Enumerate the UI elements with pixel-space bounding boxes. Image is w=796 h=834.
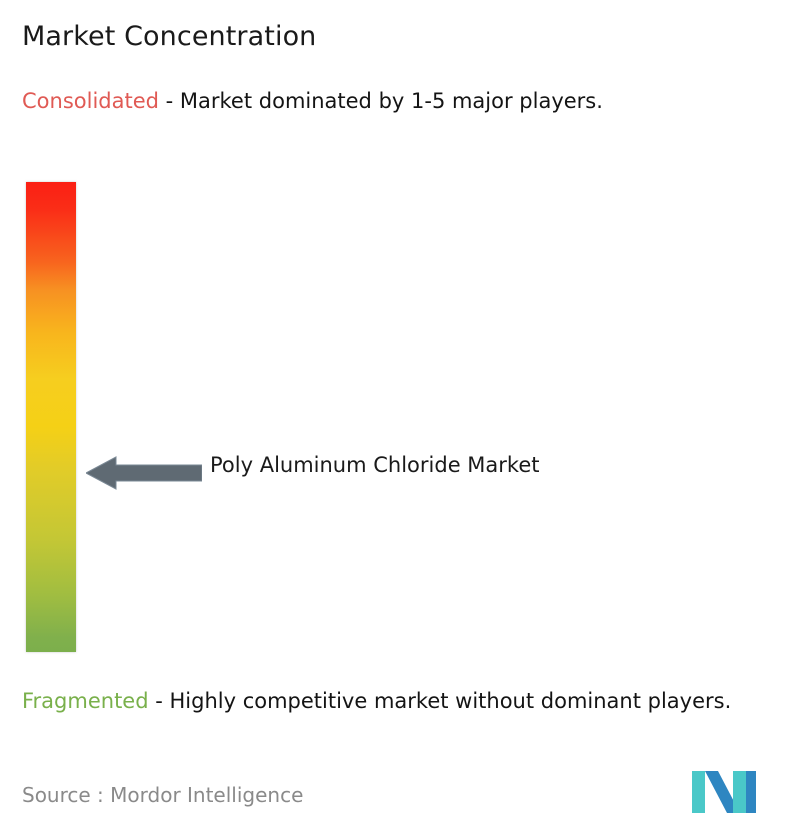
market-marker: Poly Aluminum Chloride Market xyxy=(86,448,686,518)
concentration-scale-bar xyxy=(26,182,76,652)
mordor-intelligence-logo-icon xyxy=(692,769,764,815)
legend-consolidated-description: - Market dominated by 1-5 major players. xyxy=(159,89,603,113)
legend-fragmented-key: Fragmented xyxy=(22,689,149,713)
left-arrow-icon xyxy=(86,456,202,490)
page-title: Market Concentration xyxy=(22,20,316,54)
legend-consolidated-key: Consolidated xyxy=(22,89,159,113)
legend-fragmented: Fragmented - Highly competitive market w… xyxy=(22,686,782,717)
source-attribution: Source : Mordor Intelligence xyxy=(22,781,303,809)
market-marker-label: Poly Aluminum Chloride Market xyxy=(210,448,630,483)
legend-fragmented-description: - Highly competitive market without domi… xyxy=(149,689,732,713)
legend-consolidated: Consolidated - Market dominated by 1-5 m… xyxy=(22,86,782,117)
